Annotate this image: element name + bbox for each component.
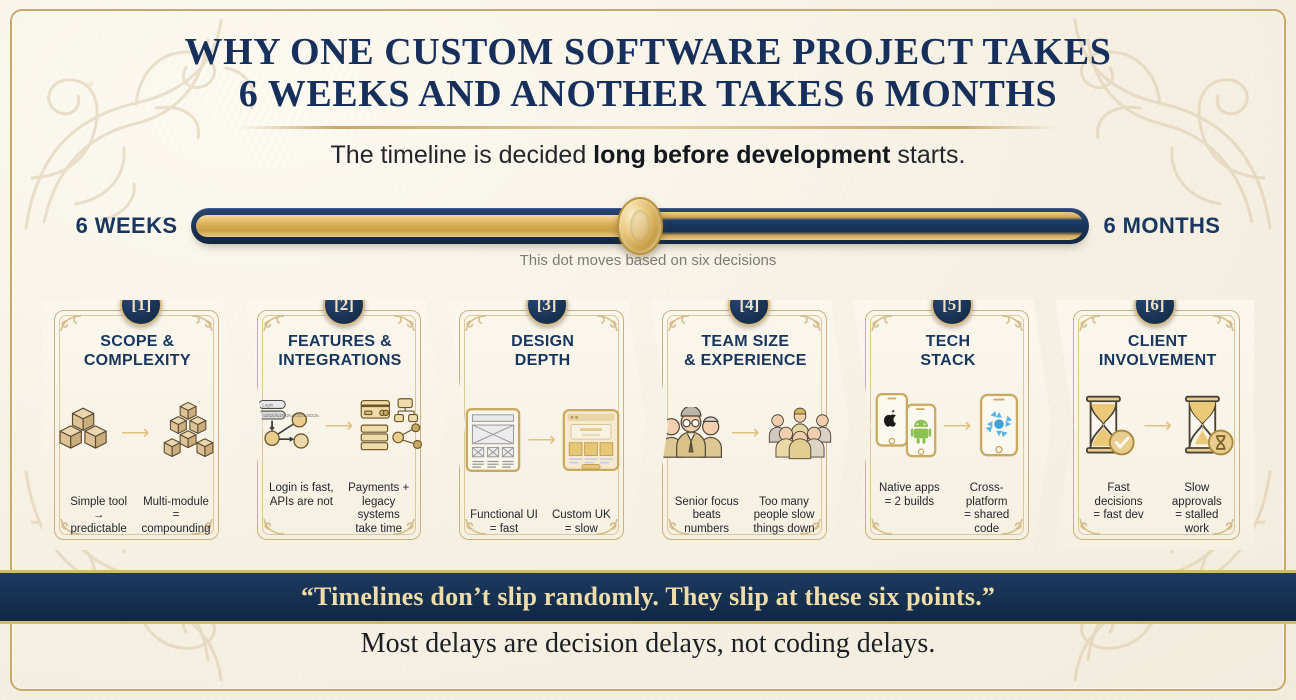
subtitle-text-after: starts. (890, 141, 965, 169)
card-badge-3: [3] (526, 284, 568, 326)
title-line-1: WHY ONE CUSTOM SOFTWARE PROJECT TAKES (0, 32, 1296, 72)
card-caption-left-1: Simple tool → predictable (64, 496, 133, 537)
card-caption-left-4: Senior focus beats numbers (672, 496, 741, 537)
card-icons-6: ⟶ (1083, 370, 1232, 482)
wireframe-icon (465, 400, 521, 480)
factor-card-4[interactable]: [4] TEAM SIZE & EXPERIENCE (650, 300, 849, 550)
card-icons-5: ⟶ (875, 370, 1022, 482)
svg-text:Login: Login (262, 403, 273, 408)
factor-card-2[interactable]: [2] FEATURES & INTEGRATIONS (245, 300, 444, 550)
page-subtitle: The timeline is decided long before deve… (0, 141, 1296, 170)
card-caption-right-1: Multi-module = compounding (141, 496, 210, 537)
arrow-right-icon: ⟶ (731, 423, 760, 443)
factor-card-1[interactable]: [1] SCOPE & COMPLEXITY ⟶ (42, 300, 241, 550)
card-caption-right-5: Cross-platform = shared code (952, 482, 1021, 536)
arrow-right-icon: ⟶ (325, 416, 354, 436)
card-captions-3: Functional UI = fast Custom UK = slow (469, 509, 616, 536)
hourglass-check-icon (1079, 386, 1137, 466)
nine-boxes-stack-icon (156, 393, 222, 473)
subtitle-text-before: The timeline is decided (331, 141, 594, 169)
title-divider-rule (238, 126, 1058, 129)
card-badge-2: [2] (323, 284, 365, 326)
card-caption-left-3: Functional UI = fast (469, 509, 538, 536)
card-title-1: SCOPE & COMPLEXITY (84, 332, 191, 370)
card-badge-4: [4] (728, 284, 770, 326)
card-title-6: CLIENT INVOLVEMENT (1099, 332, 1217, 370)
card-icons-1: ⟶ (64, 370, 211, 496)
card-icons-2: Login\u2022\u2022\u2022\u2022\u2022\u202… (267, 370, 414, 482)
factor-cards-strip: [1] SCOPE & COMPLEXITY ⟶ (42, 300, 1254, 550)
arrow-right-icon: ⟶ (527, 430, 556, 450)
card-title-2: FEATURES & INTEGRATIONS (278, 332, 401, 370)
three-boxes-icon (53, 393, 115, 473)
three-senior-people-icon (657, 393, 725, 473)
card-caption-left-5: Native apps = 2 builds (875, 482, 944, 536)
slider-left-label: 6 WEEKS (76, 213, 178, 239)
hourglass-stalled-icon (1178, 386, 1236, 466)
card-captions-1: Simple tool → predictable Multi-module =… (64, 496, 211, 537)
arrow-right-icon: ⟶ (1143, 416, 1172, 436)
card-badge-1: [1] (120, 284, 162, 326)
card-caption-left-2: Login is fast, APIs are not (267, 482, 336, 536)
card-captions-5: Native apps = 2 builds Cross-platform = … (875, 482, 1022, 536)
slider-track[interactable] (191, 208, 1089, 244)
title-line-2: 6 WEEKS AND ANOTHER TAKES 6 MONTHS (0, 72, 1296, 116)
cross-platform-phone-icon (977, 386, 1021, 466)
card-captions-6: Fast decisions = fast dev Slow approvals… (1083, 482, 1232, 536)
card-badge-6: [6] (1134, 284, 1176, 326)
svg-text:\u2022\u2022\u2022\u2022\u2022: \u2022\u2022\u2022\u2022\u2022\u2022 (262, 413, 319, 418)
arrow-right-icon: ⟶ (121, 423, 150, 443)
factor-card-6[interactable]: [6] CLIENT INVOLVEMENT (1055, 300, 1254, 550)
card-caption-right-6: Slow approvals = stalled work (1162, 482, 1232, 536)
card-captions-2: Login is fast, APIs are not Payments + l… (267, 482, 414, 536)
card-badge-5: [5] (931, 284, 973, 326)
card-captions-4: Senior focus beats numbers Too many peop… (672, 496, 819, 537)
card-caption-left-6: Fast decisions = fast dev (1083, 482, 1153, 536)
quote-banner-text: “Timelines don’t slip randomly. They sli… (301, 582, 995, 612)
page-title: WHY ONE CUSTOM SOFTWARE PROJECT TAKES 6 … (0, 32, 1296, 116)
quote-banner: “Timelines don’t slip randomly. They sli… (0, 570, 1296, 624)
slider-knob-handle[interactable] (617, 197, 663, 255)
factor-card-3[interactable]: [3] DESIGN DEPTH (447, 300, 646, 550)
slider-fill-right (639, 212, 1084, 240)
card-title-4: TEAM SIZE & EXPERIENCE (684, 332, 807, 370)
login-flow-nodes-icon: Login\u2022\u2022\u2022\u2022\u2022\u202… (255, 386, 319, 466)
slider-caption: This dot moves based on six decisions (0, 252, 1296, 269)
apple-android-phones-icon (875, 386, 937, 466)
slider-right-label: 6 MONTHS (1103, 213, 1220, 239)
large-crowd-icon (766, 393, 834, 473)
card-title-3: DESIGN DEPTH (511, 332, 574, 370)
card-caption-right-2: Payments + legacy systems take time (344, 482, 413, 536)
card-icons-4: ⟶ (672, 370, 819, 496)
payments-legacy-systems-icon (359, 386, 425, 466)
card-icons-3: ⟶ (469, 370, 616, 509)
subtitle-text-bold: long before development (593, 141, 890, 169)
custom-ui-mockup-icon (562, 400, 620, 480)
card-title-5: TECH STACK (920, 332, 975, 370)
footer-tagline: Most delays are decision delays, not cod… (0, 628, 1296, 660)
timeline-slider[interactable]: 6 WEEKS 6 MONTHS (0, 200, 1296, 252)
card-caption-right-4: Too many people slow things down (749, 496, 818, 537)
arrow-right-icon: ⟶ (943, 416, 972, 436)
factor-card-5[interactable]: [5] TECH STACK (853, 300, 1052, 550)
card-caption-right-3: Custom UK = slow (547, 509, 616, 536)
slider-fill-left (196, 215, 641, 237)
